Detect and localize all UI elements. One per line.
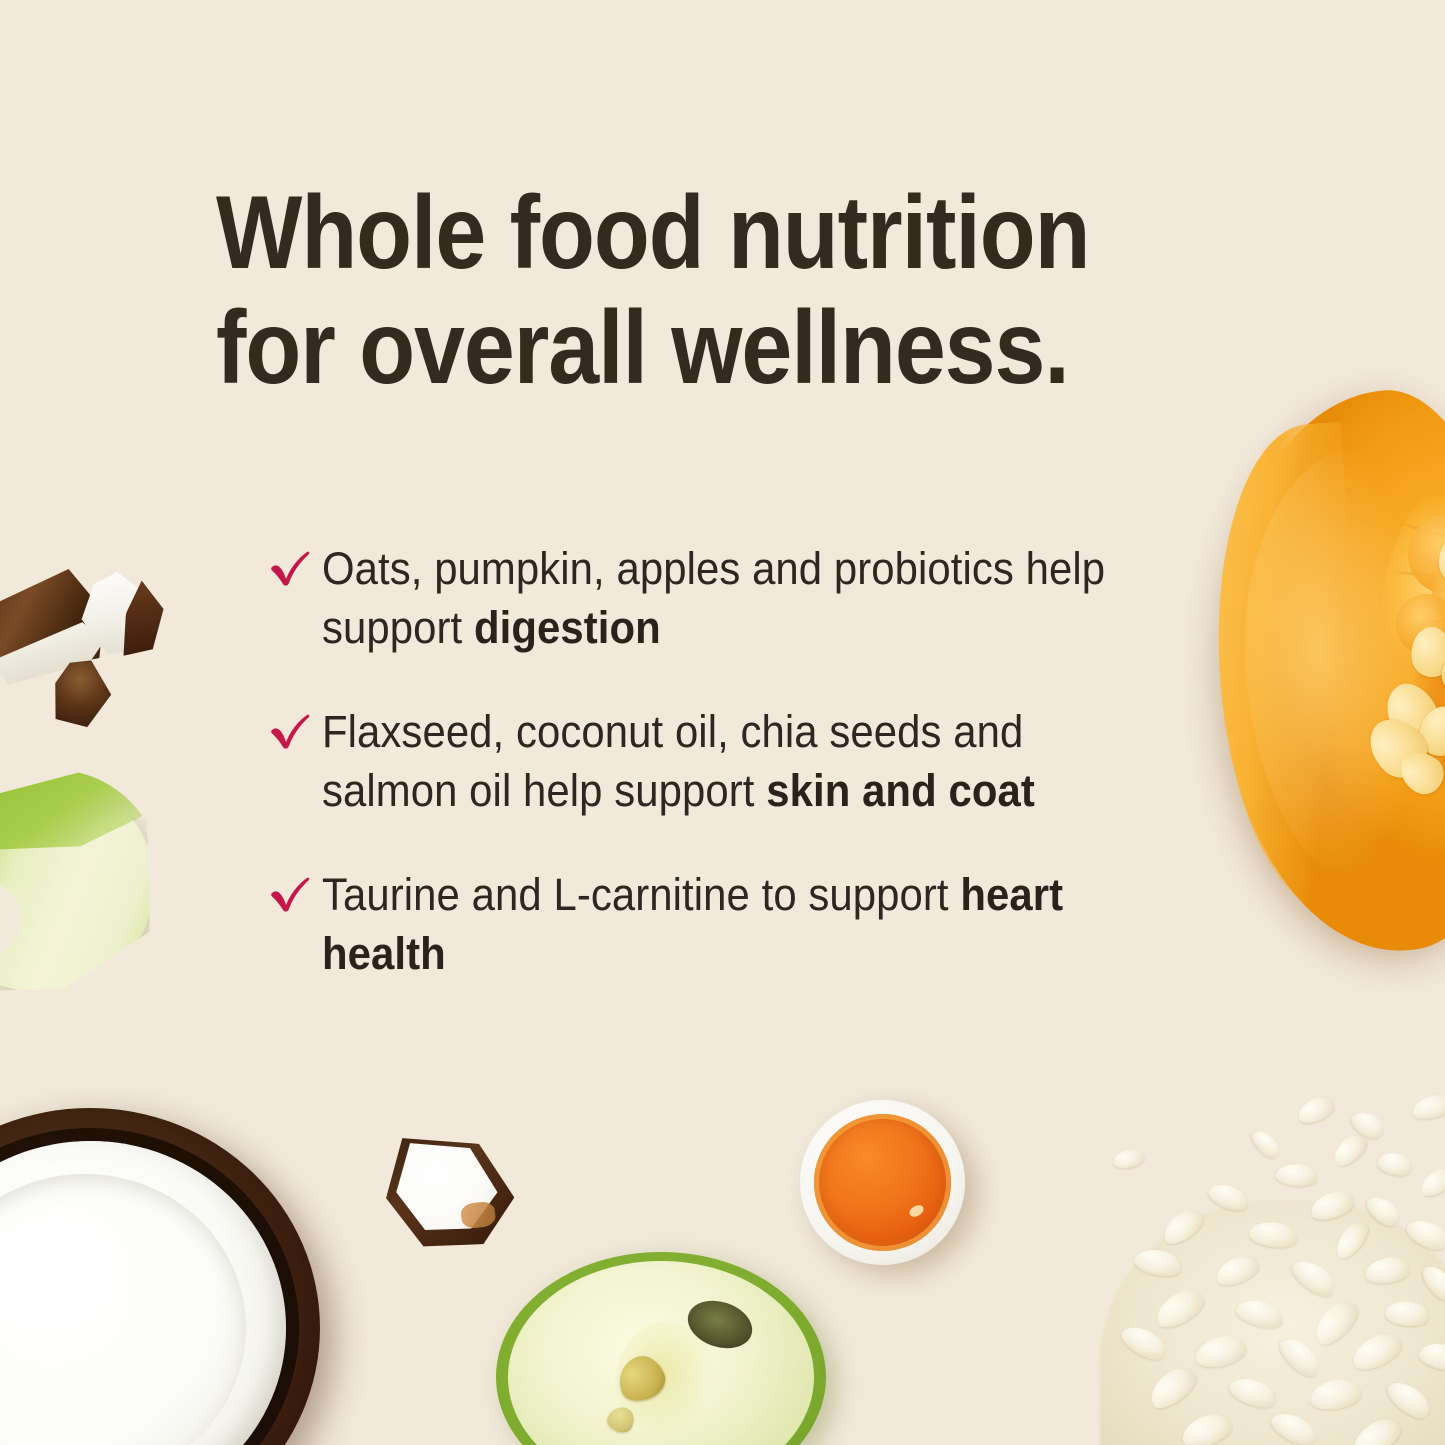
list-item-label: Taurine and L-carnitine to support heart…	[322, 866, 1127, 983]
check-icon	[268, 707, 312, 753]
content-layer: Whole food nutrition for overall wellnes…	[0, 0, 1445, 1445]
check-icon	[268, 870, 312, 916]
headline-line-2: for overall wellness.	[216, 291, 1149, 406]
list-item-label: Flaxseed, coconut oil, chia seeds and sa…	[322, 703, 1127, 820]
page-title: Whole food nutrition for overall wellnes…	[216, 176, 1149, 407]
check-icon	[268, 544, 312, 590]
product-benefits-banner: Whole food nutrition for overall wellnes…	[0, 0, 1445, 1445]
list-item: Oats, pumpkin, apples and probiotics hel…	[268, 540, 1188, 657]
list-item-label: Oats, pumpkin, apples and probiotics hel…	[322, 540, 1127, 657]
list-item: Taurine and L-carnitine to support heart…	[268, 866, 1188, 983]
headline-line-1: Whole food nutrition	[216, 176, 1149, 291]
benefits-list: Oats, pumpkin, apples and probiotics hel…	[268, 540, 1188, 983]
list-item: Flaxseed, coconut oil, chia seeds and sa…	[268, 703, 1188, 820]
